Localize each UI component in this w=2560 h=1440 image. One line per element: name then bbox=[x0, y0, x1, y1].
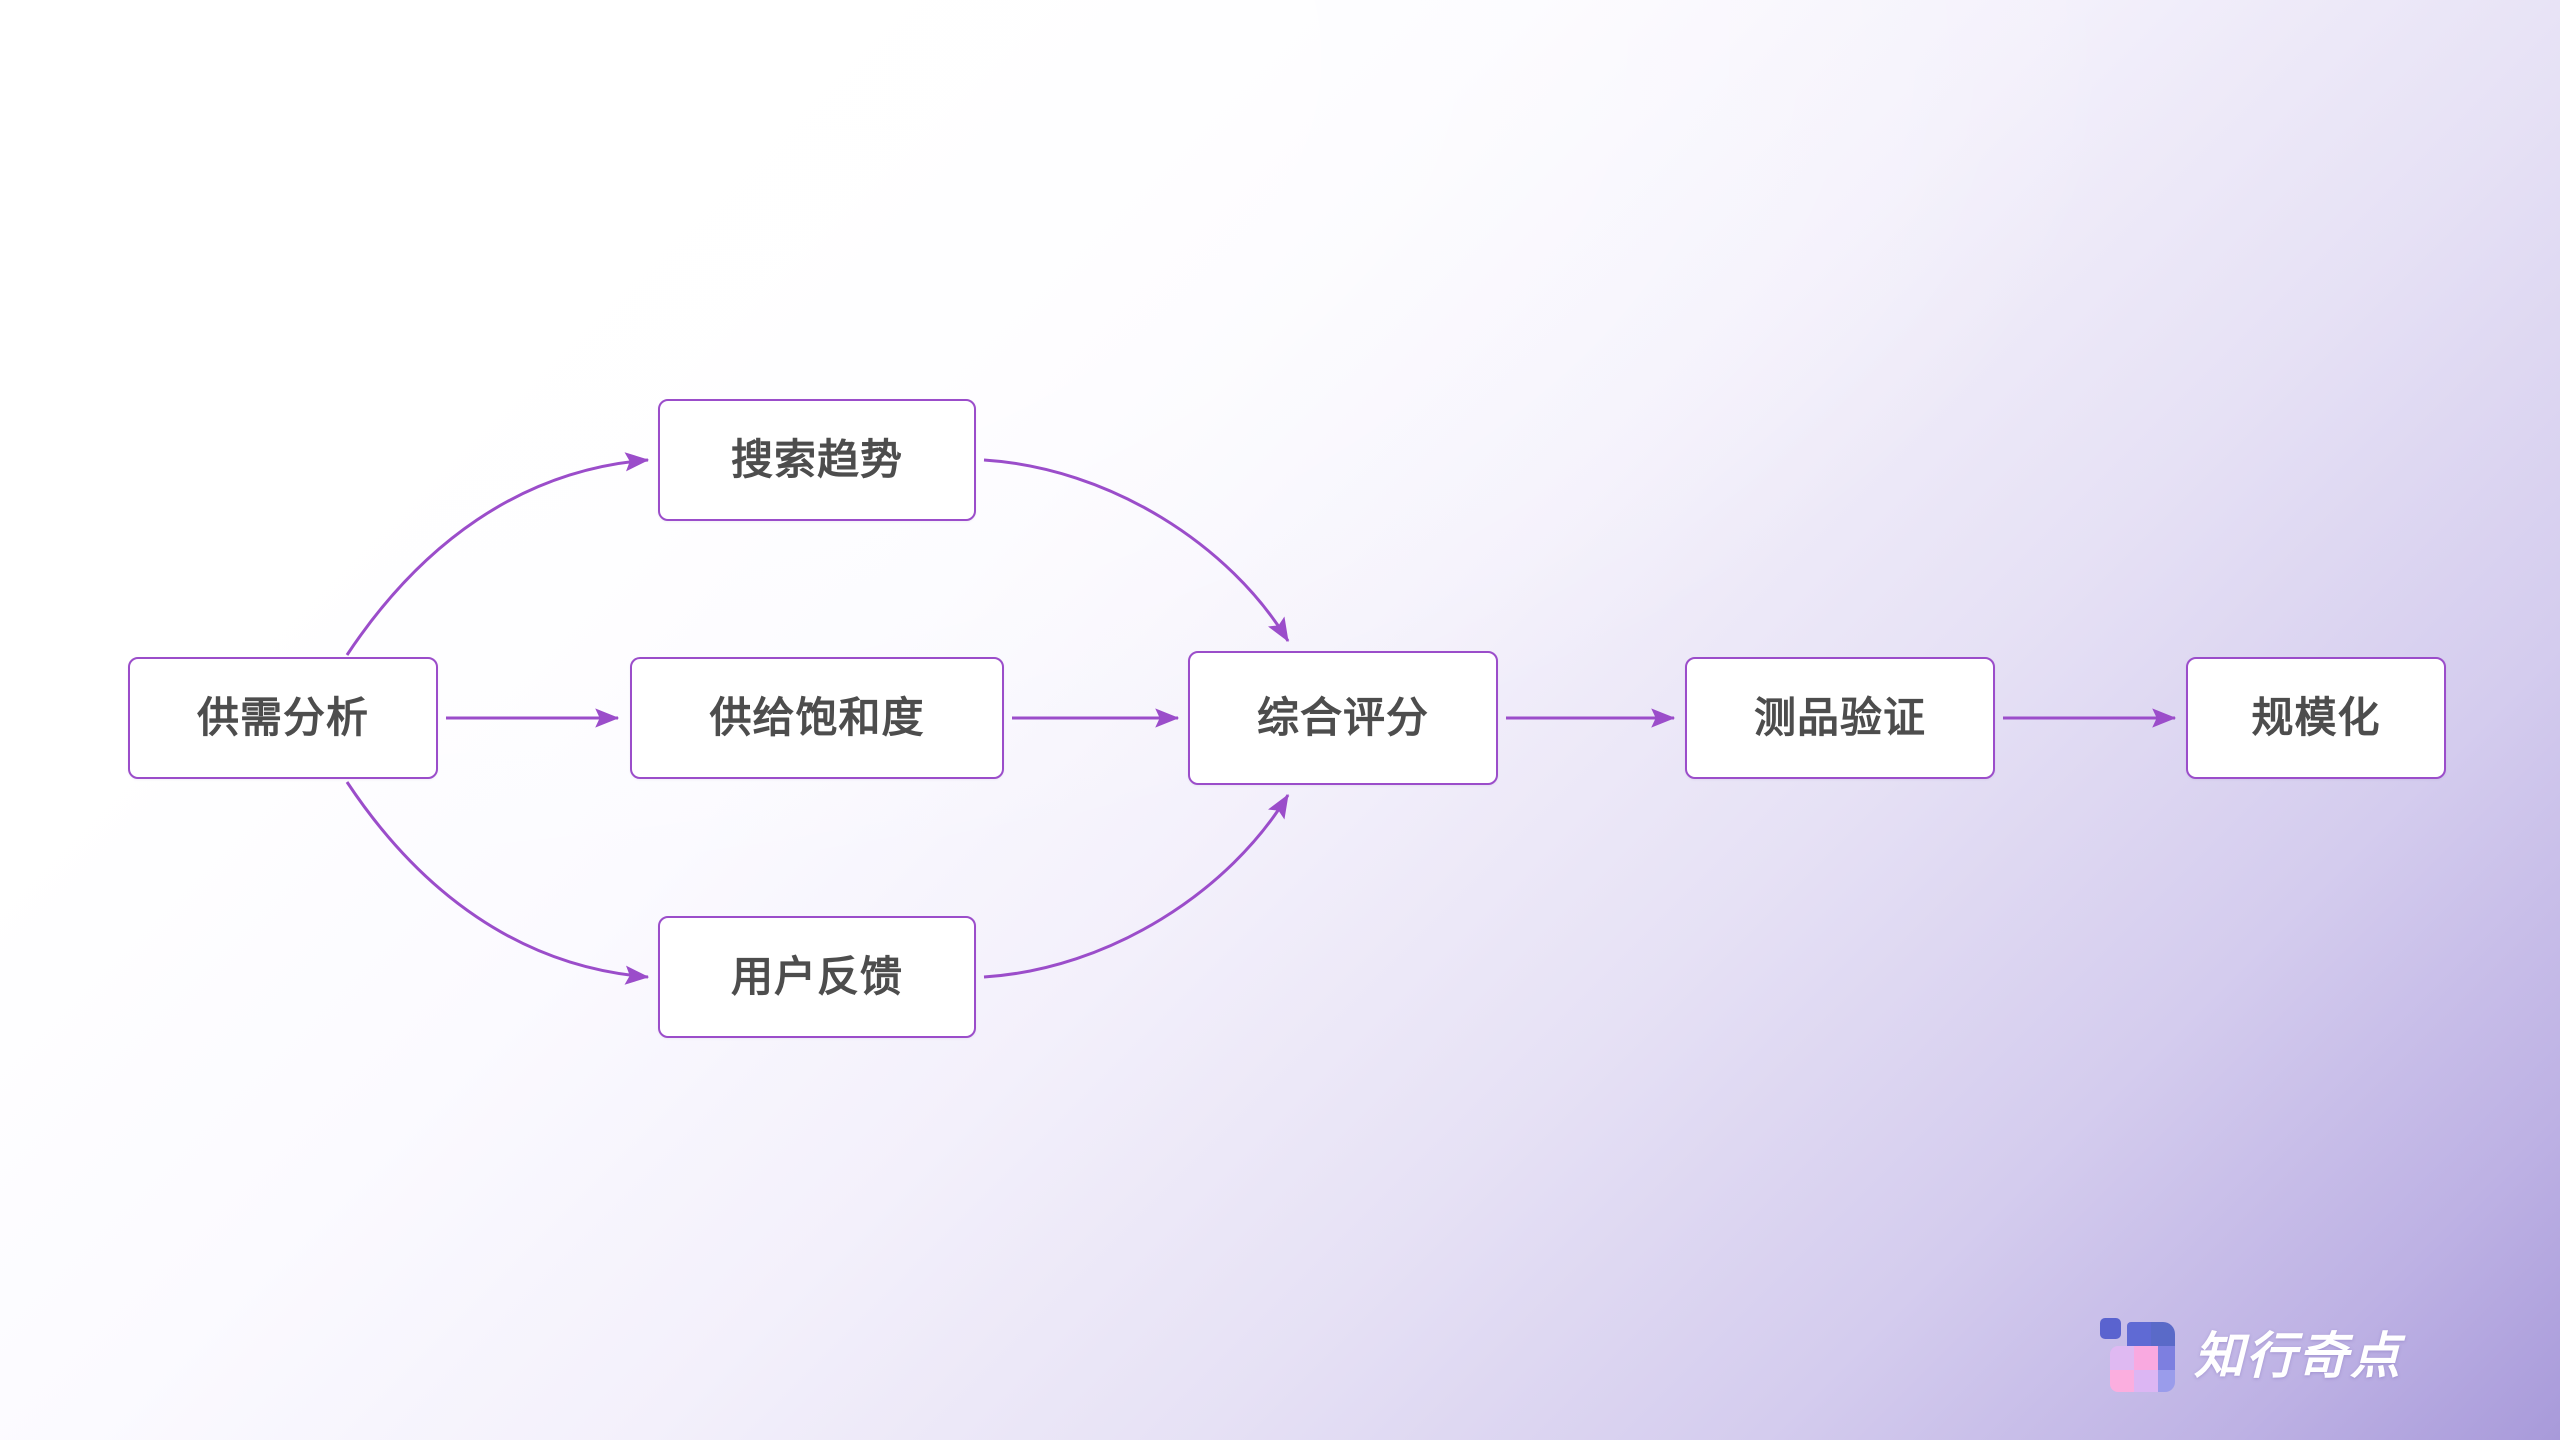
node-demand-analysis[interactable]: 供需分析 bbox=[128, 657, 438, 779]
node-scale-up[interactable]: 规模化 bbox=[2186, 657, 2446, 779]
node-label: 规模化 bbox=[2251, 697, 2380, 739]
node-search-trend[interactable]: 搜索趋势 bbox=[658, 399, 976, 521]
node-label: 供给饱和度 bbox=[709, 697, 924, 739]
edge-demand-analysis-to-user-feedback bbox=[347, 782, 648, 977]
node-user-feedback[interactable]: 用户反馈 bbox=[658, 916, 976, 1038]
node-label: 综合评分 bbox=[1257, 697, 1429, 739]
node-label: 用户反馈 bbox=[731, 956, 903, 998]
watermark: 知行奇点 bbox=[2100, 1318, 2402, 1394]
node-supply-saturation[interactable]: 供给饱和度 bbox=[630, 657, 1004, 779]
node-label: 测品验证 bbox=[1754, 697, 1926, 739]
edge-search-trend-to-composite-score bbox=[984, 460, 1288, 641]
node-label: 供需分析 bbox=[197, 697, 369, 739]
edge-demand-analysis-to-search-trend bbox=[347, 460, 648, 655]
zhixing-qidian-logo-icon bbox=[2100, 1318, 2176, 1394]
diagram-canvas: 供需分析 搜索趋势 供给饱和度 用户反馈 综合评分 测品验证 规模化 bbox=[0, 0, 2560, 1440]
node-product-test[interactable]: 测品验证 bbox=[1685, 657, 1995, 779]
watermark-text: 知行奇点 bbox=[2194, 1331, 2402, 1381]
node-composite-score[interactable]: 综合评分 bbox=[1188, 651, 1498, 785]
node-label: 搜索趋势 bbox=[731, 439, 903, 481]
edge-user-feedback-to-composite-score bbox=[984, 795, 1288, 977]
